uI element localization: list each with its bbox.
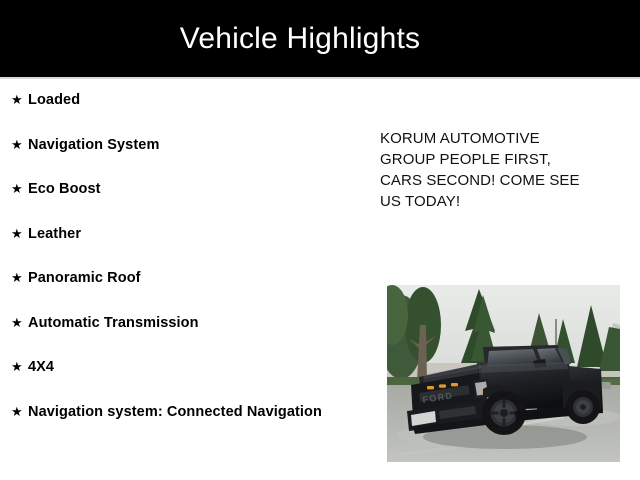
vehicle-features-list: ★ Loaded ★ Navigation System ★ Eco Boost…	[9, 90, 359, 446]
star-bullet-icon: ★	[9, 179, 28, 199]
list-item: ★ Loaded	[9, 90, 359, 110]
star-bullet-icon: ★	[9, 90, 28, 110]
star-bullet-icon: ★	[9, 135, 28, 155]
feature-label: Automatic Transmission	[28, 313, 359, 333]
vehicle-photo: FORD	[387, 285, 620, 462]
feature-label: Panoramic Roof	[28, 268, 359, 288]
feature-label: Navigation System	[28, 135, 359, 155]
feature-label: Eco Boost	[28, 179, 359, 199]
list-item: ★ Automatic Transmission	[9, 313, 359, 333]
list-item: ★ Navigation System	[9, 135, 359, 155]
list-item: ★ 4X4	[9, 357, 359, 377]
star-bullet-icon: ★	[9, 224, 28, 244]
star-bullet-icon: ★	[9, 357, 28, 377]
list-item: ★ Panoramic Roof	[9, 268, 359, 288]
list-item: ★ Eco Boost	[9, 179, 359, 199]
dealer-message: KORUM AUTOMOTIVE GROUP PEOPLE FIRST, CAR…	[380, 128, 595, 212]
star-bullet-icon: ★	[9, 313, 28, 333]
page-title: Vehicle Highlights	[180, 24, 420, 54]
feature-label: Leather	[28, 224, 359, 244]
truck-photo-illustration: FORD	[387, 285, 620, 462]
list-item: ★ Leather	[9, 224, 359, 244]
header-banner: Vehicle Highlights	[0, 0, 640, 77]
list-item: ★ Navigation system: Connected Navigatio…	[9, 402, 359, 422]
header-divider	[0, 77, 640, 79]
star-bullet-icon: ★	[9, 402, 28, 422]
feature-label: Loaded	[28, 90, 359, 110]
feature-label: 4X4	[28, 357, 359, 377]
feature-label: Navigation system: Connected Navigation	[28, 402, 359, 422]
star-bullet-icon: ★	[9, 268, 28, 288]
